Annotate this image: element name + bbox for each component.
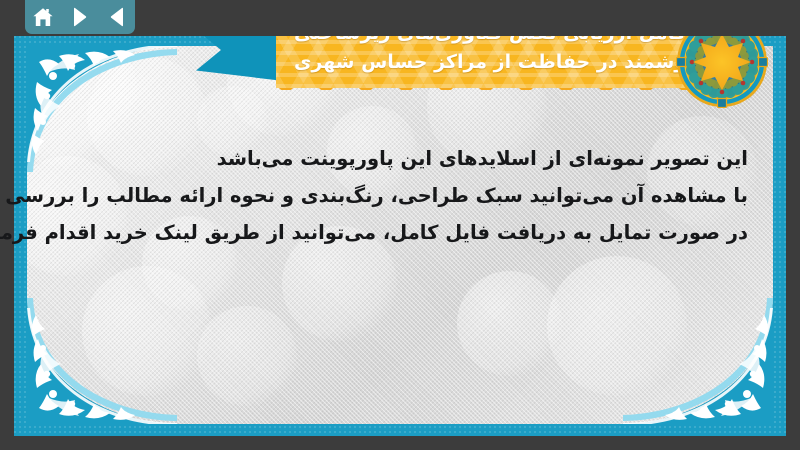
triangle-left-icon (108, 7, 126, 27)
body-line-1: این تصویر نمونه‌ای از اسلایدهای این پاور… (68, 140, 748, 177)
home-button[interactable] (30, 5, 56, 29)
slide-canvas: این تصویر نمونه‌ای از اسلایدهای این پاور… (14, 36, 786, 436)
bokeh-circle (547, 256, 687, 396)
navigation-bar (0, 0, 800, 36)
home-icon (32, 7, 54, 28)
slide-body-text: این تصویر نمونه‌ای از اسلایدهای این پاور… (68, 140, 748, 251)
slide-viewer: این تصویر نمونه‌ای از اسلایدهای این پاور… (0, 0, 800, 450)
body-line-3: در صورت تمایل به دریافت فایل کامل، می‌تو… (68, 214, 748, 251)
triangle-right-icon (71, 7, 89, 27)
bokeh-circle (82, 266, 212, 396)
navigation-button-group (25, 0, 135, 34)
body-line-2: با مشاهده آن می‌توانید سبک طراحی، رنگ‌بن… (68, 177, 748, 214)
title-line-2: هوشمند در حفاظت از مراکز حساس شهری (294, 48, 699, 77)
previous-slide-button[interactable] (104, 5, 130, 29)
next-slide-button[interactable] (67, 5, 93, 29)
bokeh-circle (197, 306, 297, 406)
